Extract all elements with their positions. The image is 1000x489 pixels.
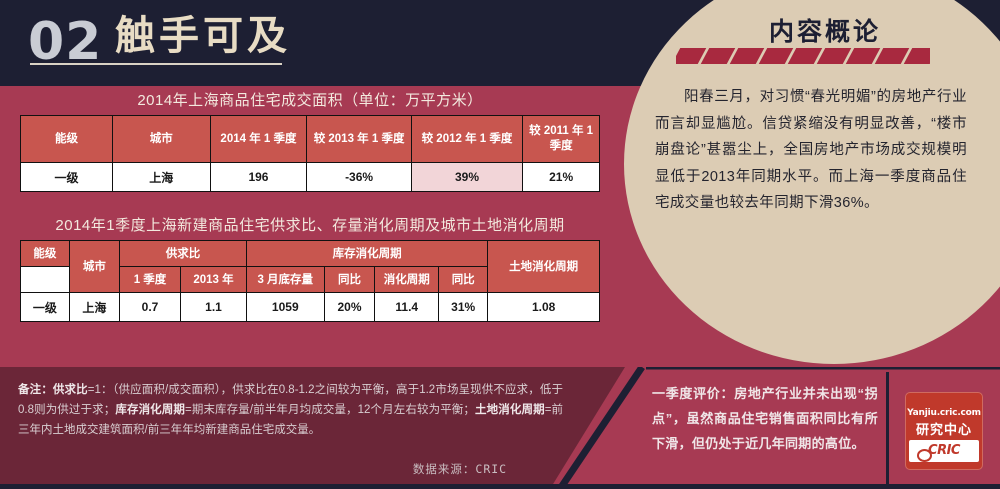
poster-canvas: 02 触手可及 内容概论 阳春三月，对习惯“春光明媚”的房地产行业而言却显尴尬。… [0,0,1000,489]
footnote-term-1: 供求比 [53,384,88,396]
table2-sub-0: 1 季度 [120,267,181,293]
table2-cell-6: 11.4 [375,293,439,322]
footnote-term-3: 土地消化周期 [475,404,545,416]
table1-col-1: 城市 [113,116,211,163]
table2-blank-cell [21,267,70,293]
overview-title: 内容概论 [680,12,970,48]
section-number: 02 [28,16,102,68]
table1-col-2: 2014 年 1 季度 [210,116,307,163]
table1-cell-2: 196 [210,163,307,192]
table2-cell-7: 31% [439,293,488,322]
table2-cell-3: 1.1 [181,293,247,322]
table1-header-row: 能级 城市 2014 年 1 季度 较 2013 年 1 季度 较 2012 年… [21,116,600,163]
table-housing-transaction-area: 能级 城市 2014 年 1 季度 较 2013 年 1 季度 较 2012 年… [20,115,600,192]
logo-brand-text: CRIC [909,443,979,458]
table2-cell-4: 1059 [246,293,324,322]
table2-group-3: 库存消化周期 [246,241,487,267]
logo-cn-text: 研究中心 [905,419,983,438]
table1-col-5: 较 2011 年 1 季度 [523,116,600,163]
header-underline [30,63,282,65]
table1-title: 2014年上海商品住宅成交面积（单位：万平方米） [20,89,600,110]
table2-sub-5: 同比 [439,267,488,293]
table-supply-demand-inventory: 能级 城市 供求比 库存消化周期 土地消化周期 1 季度 2013 年 3 月底… [20,240,600,322]
table2-group-header-row: 能级 城市 供求比 库存消化周期 土地消化周期 [21,241,600,267]
table2-sub-1: 2013 年 [181,267,247,293]
table2-sub-3: 同比 [324,267,375,293]
table1-col-4: 较 2012 年 1 季度 [411,116,522,163]
table2-cell-1: 上海 [69,293,119,322]
table2-cell-2: 0.7 [120,293,181,322]
table1-cell-4-highlight: 39% [411,163,522,192]
table1-cell-3: -36% [307,163,411,192]
table2-group-1: 城市 [69,241,119,293]
overview-body: 阳春三月，对习惯“春光明媚”的房地产行业而言却显尴尬。信贷紧缩没有明显改善，“楼… [655,84,967,217]
footnote-text-2: =期末库存量/前半年月均成交量，12个月左右较为平衡； [185,404,475,416]
table2-cell-8: 1.08 [488,293,600,322]
table1-col-3: 较 2013 年 1 季度 [307,116,411,163]
section-title: 触手可及 [115,12,291,60]
table-row: 一级 上海 0.7 1.1 1059 20% 11.4 31% 1.08 [21,293,600,322]
table2-group-0: 能级 [21,241,70,267]
table1-cell-0: 一级 [21,163,113,192]
footer-vertical-divider [886,372,889,489]
footnote: 备注：供求比=1：（供应面积/成交面积），供求比在0.8-1.2之间较为平衡，高… [18,380,563,440]
table-row: 一级 上海 196 -36% 39% 21% [21,163,600,192]
quarter-comment: 一季度评价：房地产行业并未出现“拐点”，虽然商品住宅销售面积同比有所下滑，但仍处… [652,381,878,456]
table2-sub-4: 消化周期 [375,267,439,293]
cric-logo: Yanjiu.cric.com 研究中心 CRIC [905,392,983,470]
table1-cell-1: 上海 [113,163,211,192]
table2-sub-2: 3 月底存量 [246,267,324,293]
table2-cell-0: 一级 [21,293,70,322]
table2-group-4: 土地消化周期 [488,241,600,293]
table1-col-0: 能级 [21,116,113,163]
overview-divider-icon [676,48,930,64]
footnote-prefix: 备注： [18,384,53,396]
logo-brand-band: CRIC [909,440,979,462]
footnote-term-2: 库存消化周期 [115,404,185,416]
table1-cell-5: 21% [523,163,600,192]
table2-title: 2014年1季度上海新建商品住宅供求比、存量消化周期及城市土地消化周期 [20,214,600,235]
data-source-label: 数据来源：CRIC [360,461,560,477]
table2-cell-5: 20% [324,293,375,322]
logo-url-text: Yanjiu.cric.com [905,408,983,418]
bottom-bar [0,484,1000,489]
table2-group-2: 供求比 [120,241,247,267]
